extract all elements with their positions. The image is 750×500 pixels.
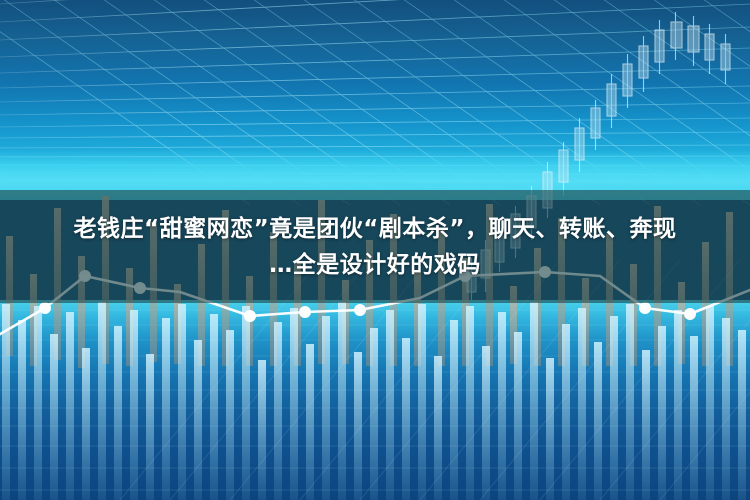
headline-line-2: …全是设计好的戏码 bbox=[269, 248, 481, 282]
cover-image: 老钱庄“甜蜜网恋”竟是团伙“剧本杀”，聊天、转账、奔现 …全是设计好的戏码 bbox=[0, 0, 750, 500]
headline-overlay: 老钱庄“甜蜜网恋”竟是团伙“剧本杀”，聊天、转账、奔现 …全是设计好的戏码 bbox=[0, 190, 750, 303]
headline-line-1: 老钱庄“甜蜜网恋”竟是团伙“剧本杀”，聊天、转账、奔现 bbox=[74, 212, 677, 246]
